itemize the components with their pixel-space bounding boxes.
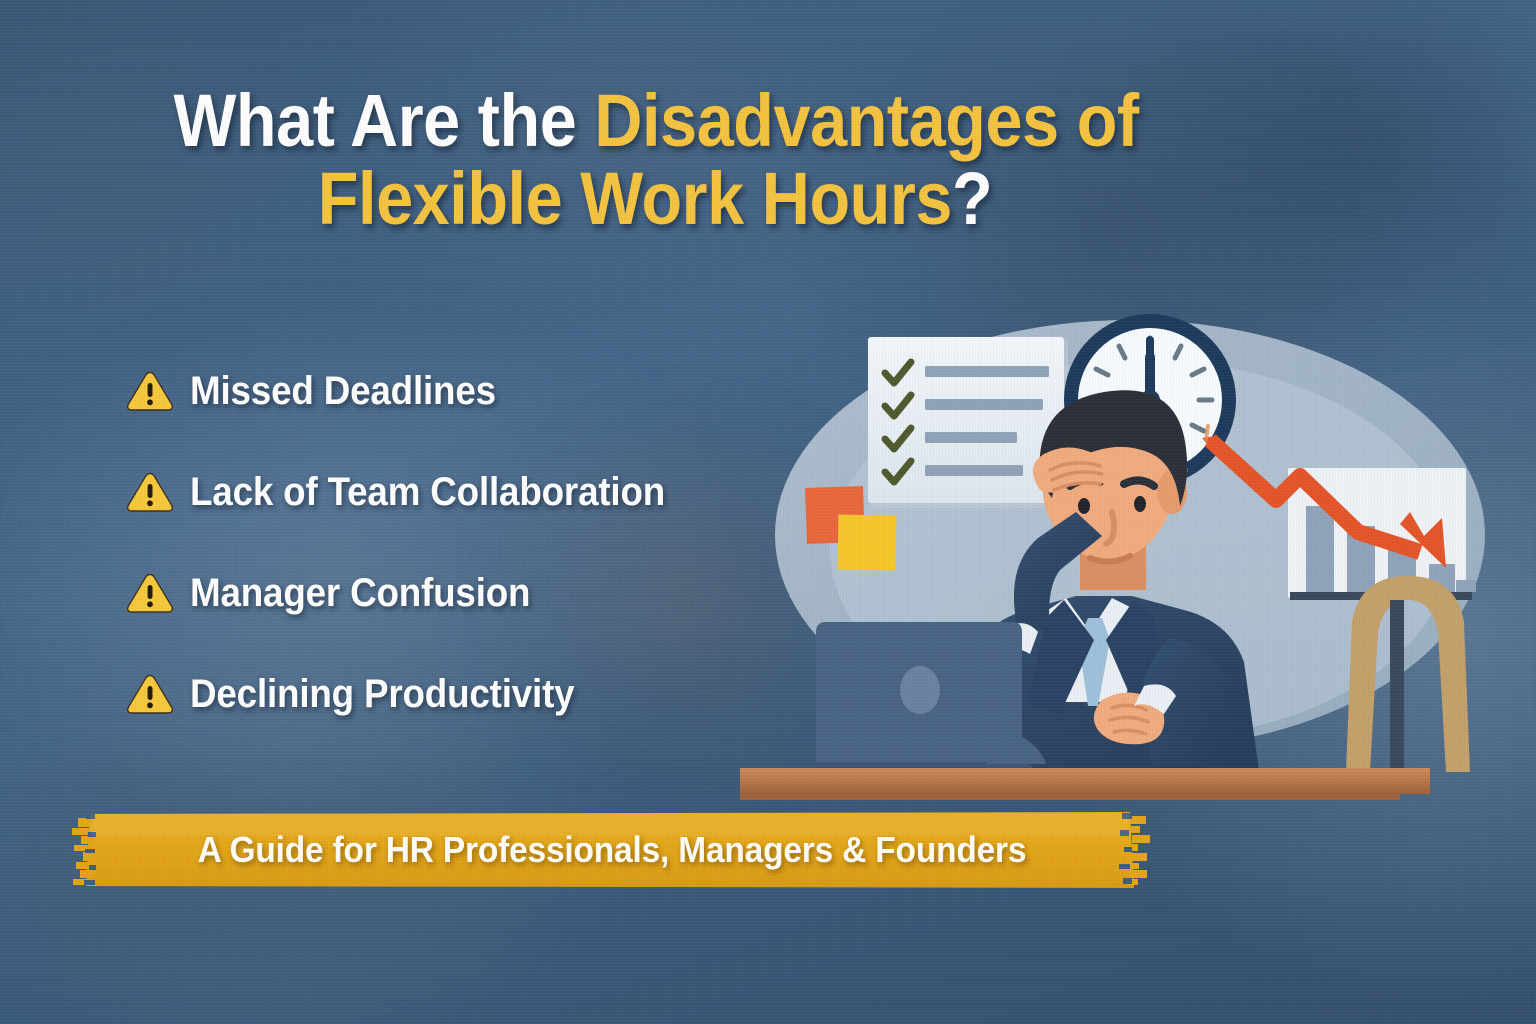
laptop — [790, 622, 1046, 782]
list-item-label: Manager Confusion — [190, 571, 530, 616]
title-line1-white: What Are the — [174, 79, 595, 162]
background-blur-blob-bottom-left — [0, 760, 560, 1024]
laptop-logo — [900, 666, 940, 714]
background-blur-blob-top-right — [1080, 0, 1536, 340]
title-line1-gold: Disadvantages of — [594, 79, 1138, 162]
disadvantages-list: Missed Deadlines Lack of Team Collaborat… — [126, 362, 826, 766]
list-item: Missed Deadlines — [126, 362, 826, 420]
eye-right — [1134, 496, 1146, 512]
title-line-2: Flexible Work Hours? — [174, 160, 1137, 238]
warning-triangle-icon — [126, 471, 174, 513]
list-item-label: Lack of Team Collaboration — [190, 470, 665, 515]
title-line-1: What Are the Disadvantages of — [174, 82, 1137, 160]
banner-label: A Guide for HR Professionals, Managers &… — [110, 808, 1114, 892]
page-title: What Are the Disadvantages of Flexible W… — [174, 82, 1137, 239]
title-line2-gold: Flexible Work Hours — [318, 157, 952, 240]
warning-triangle-icon — [126, 673, 174, 715]
desk — [740, 768, 1430, 800]
chart-bar — [1456, 580, 1476, 592]
warning-triangle-icon — [126, 370, 174, 412]
list-item: Manager Confusion — [126, 564, 826, 622]
title-question-mark: ? — [952, 157, 992, 240]
subtitle-banner: A Guide for HR Professionals, Managers &… — [72, 808, 1152, 892]
illustration — [740, 300, 1500, 800]
chart-bar — [1306, 506, 1334, 592]
list-item-label: Declining Productivity — [190, 672, 574, 717]
eye-left — [1078, 498, 1090, 514]
list-item: Declining Productivity — [126, 665, 826, 723]
warning-triangle-icon — [126, 572, 174, 614]
sticky-note-yellow — [838, 514, 897, 570]
list-item: Lack of Team Collaboration — [126, 463, 826, 521]
list-item-label: Missed Deadlines — [190, 369, 496, 414]
